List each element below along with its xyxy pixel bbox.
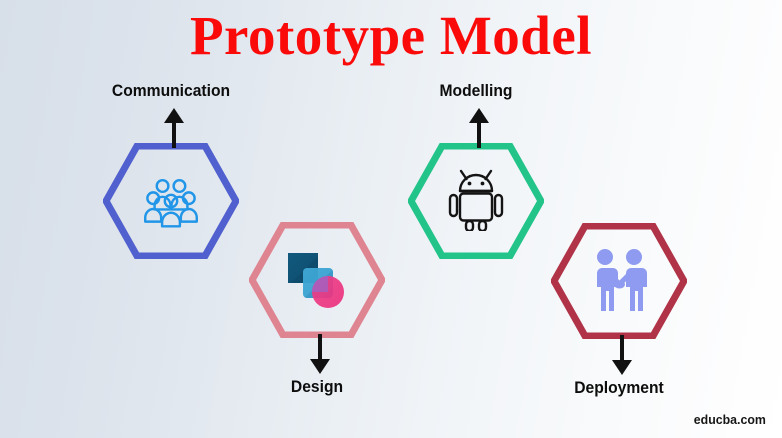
design-shapes-icon xyxy=(285,248,349,312)
node-design: Design xyxy=(249,222,385,338)
down-arrow-design xyxy=(309,334,331,374)
handshake-people-icon xyxy=(586,246,652,316)
page-title: Prototype Model xyxy=(0,2,782,70)
node-label-design: Design xyxy=(249,377,385,397)
watermark-educba: educba.com xyxy=(694,412,766,428)
android-robot-icon xyxy=(448,169,504,231)
node-label-modelling: Modelling xyxy=(404,81,548,101)
node-modelling: Modelling xyxy=(408,143,544,259)
node-label-communication: Communication xyxy=(86,81,255,101)
node-deployment: Deployment xyxy=(551,223,687,339)
down-arrow-deployment xyxy=(611,335,633,375)
up-arrow-modelling xyxy=(468,108,490,148)
up-arrow-communication xyxy=(163,108,185,148)
node-communication: Communication xyxy=(103,143,239,259)
prototype-model-diagram: Prototype Model xyxy=(0,0,782,438)
node-label-deployment: Deployment xyxy=(544,378,695,398)
people-group-icon xyxy=(141,171,201,231)
